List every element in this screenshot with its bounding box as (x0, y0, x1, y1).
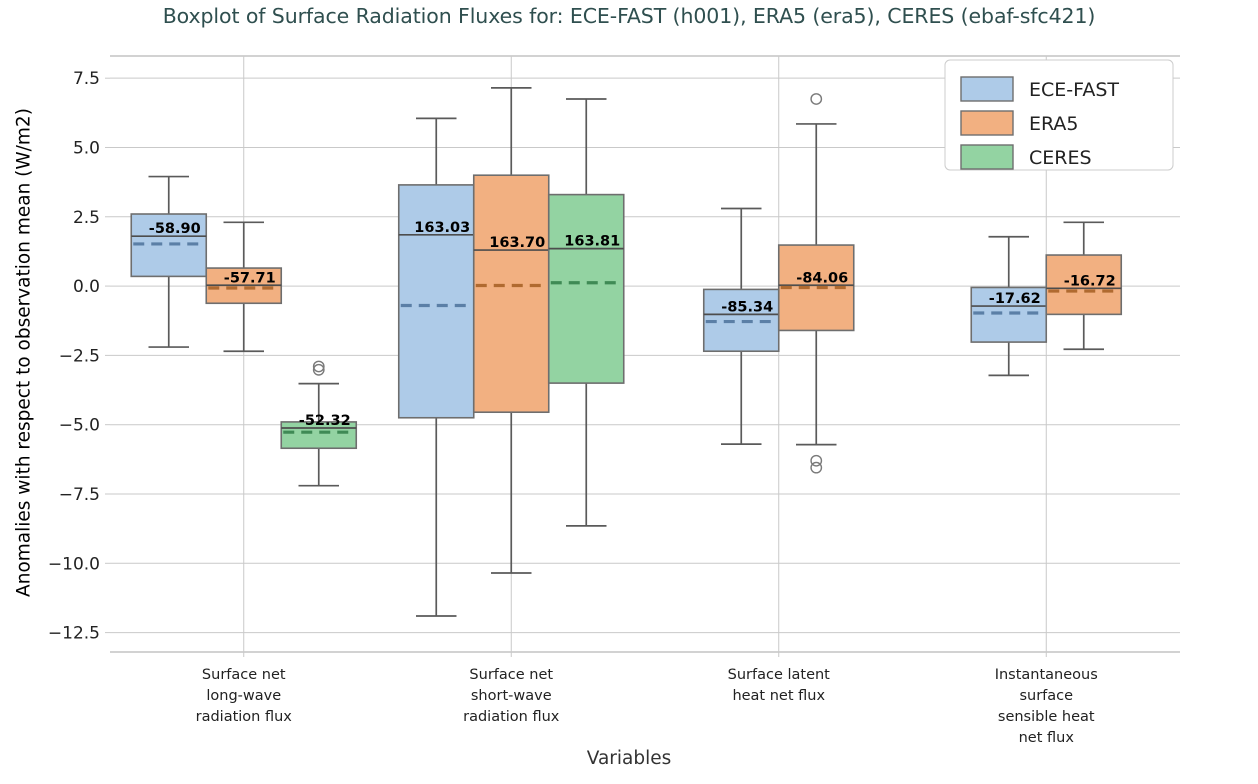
box-value-label: 163.70 (489, 235, 545, 251)
boxplot-box[interactable]: -85.34 (704, 208, 779, 444)
boxplot-box[interactable]: -52.32 (281, 361, 356, 485)
boxplot-box[interactable]: -16.72 (1046, 222, 1121, 349)
plot-area: 7.55.02.50.0−2.5−5.0−7.5−10.0−12.5 Surfa… (0, 0, 1258, 784)
box-value-label: 163.03 (414, 220, 470, 236)
legend-swatch-ceres[interactable] (961, 145, 1013, 169)
box-value-label: -84.06 (796, 270, 848, 286)
x-tick-label: net flux (1019, 730, 1075, 746)
boxplot-box[interactable]: 163.70 (474, 88, 549, 573)
boxplot-box[interactable]: -84.06 (779, 94, 854, 473)
x-tick-label: Instantaneous (995, 667, 1098, 683)
y-tick-label: 0.0 (73, 277, 100, 297)
box-value-label: -58.90 (149, 221, 201, 237)
boxplot-figure: Boxplot of Surface Radiation Fluxes for:… (0, 0, 1258, 784)
y-tick-label: −5.0 (59, 416, 100, 436)
legend-label-era5: ERA5 (1029, 113, 1079, 135)
y-tick-label: 7.5 (73, 69, 100, 89)
x-tick-label: surface (1019, 688, 1073, 704)
y-axis-ticks: 7.55.02.50.0−2.5−5.0−7.5−10.0−12.5 (48, 69, 110, 643)
boxplot-box[interactable]: -57.71 (206, 222, 281, 351)
box-value-label: -85.34 (721, 299, 773, 315)
y-tick-label: −2.5 (59, 346, 100, 366)
x-tick-label: radiation flux (196, 709, 293, 725)
y-tick-label: −7.5 (59, 485, 100, 505)
legend-swatch-era5[interactable] (961, 111, 1013, 135)
box-value-label: 163.81 (564, 234, 620, 250)
x-tick-label: sensible heat (998, 709, 1095, 725)
x-tick-label: Surface net (469, 667, 553, 683)
y-tick-label: −12.5 (48, 624, 100, 644)
boxplot-box[interactable]: -58.90 (131, 177, 206, 347)
x-tick-label: short-wave (471, 688, 552, 704)
chart-legend[interactable]: ECE-FASTERA5CERES (945, 60, 1173, 170)
y-tick-label: 2.5 (73, 208, 100, 228)
x-tick-label: Surface net (202, 667, 286, 683)
x-tick-label: heat net flux (732, 688, 825, 704)
boxplot-box[interactable]: 163.81 (549, 99, 624, 526)
box-rect[interactable] (474, 175, 549, 412)
box-value-label: -17.62 (989, 291, 1041, 307)
box-value-label: -16.72 (1064, 273, 1116, 289)
legend-label-ece-fast: ECE-FAST (1029, 79, 1119, 101)
y-tick-label: −10.0 (48, 554, 100, 574)
legend-swatch-ece-fast[interactable] (961, 77, 1013, 101)
box-rect[interactable] (549, 195, 624, 384)
x-tick-label: Surface latent (728, 667, 831, 683)
boxplot-box[interactable]: 163.03 (399, 118, 474, 616)
box-value-label: -52.32 (299, 413, 351, 429)
outlier-point (811, 462, 821, 472)
x-axis-ticks: Surface netlong-waveradiation fluxSurfac… (196, 652, 1098, 746)
legend-label-ceres: CERES (1029, 147, 1092, 169)
box-value-label: -57.71 (224, 270, 276, 286)
x-tick-label: long-wave (206, 688, 281, 704)
boxplot-box[interactable]: -17.62 (971, 237, 1046, 376)
y-tick-label: 5.0 (73, 138, 100, 158)
x-tick-label: radiation flux (463, 709, 560, 725)
outlier-point (811, 94, 821, 104)
